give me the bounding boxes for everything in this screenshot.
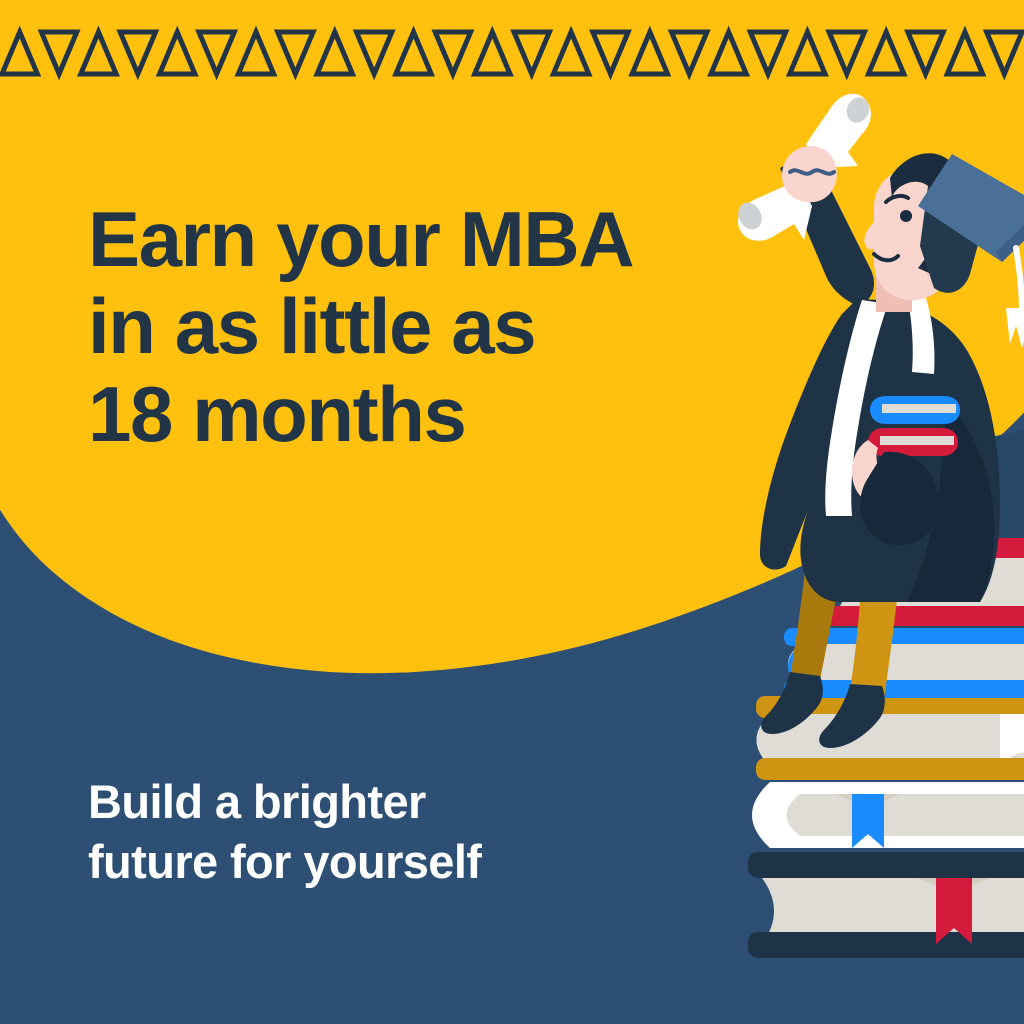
book-white: [752, 782, 1024, 848]
graduate-illustration: [594, 0, 1024, 1024]
book-navy: [748, 852, 1024, 958]
eye: [900, 210, 912, 222]
nose: [864, 222, 876, 249]
tassel-cord: [1016, 248, 1022, 312]
diploma-scroll: [734, 94, 874, 241]
promo-poster: Earn your MBA in as little as 18 months …: [0, 0, 1024, 1024]
tassel-fringe: [1006, 308, 1024, 348]
